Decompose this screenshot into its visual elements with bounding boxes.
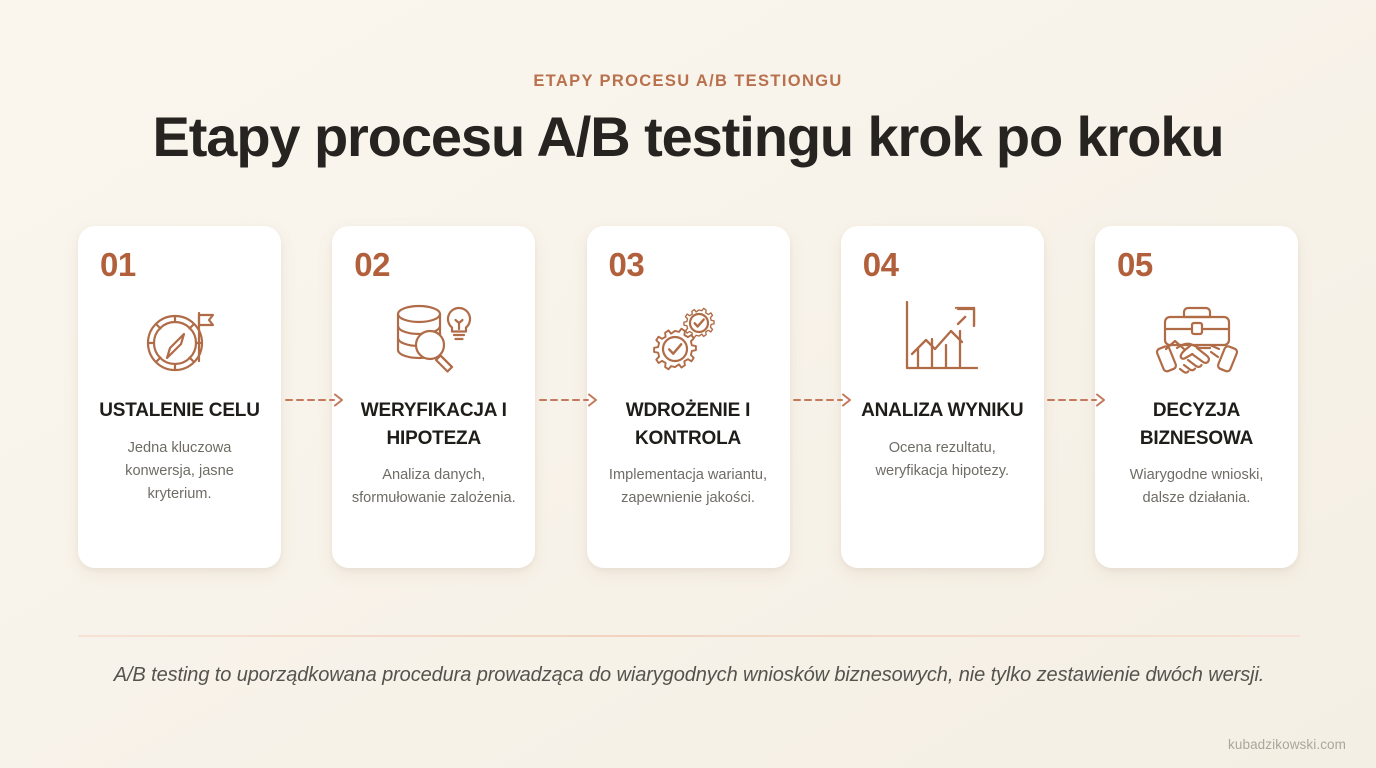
growth-chart-arrow-icon [898,297,986,377]
step-card-05[interactable]: 05 [1095,226,1298,568]
step-description: Jedna kluczowa konwersja, jasne kryteriu… [94,437,265,506]
step-card-04[interactable]: 04 ANALIZA WYNIKU Ocena rezultatu, weryf… [841,226,1044,568]
step-description: Implementacja wariantu, zapewnienie jako… [603,464,774,510]
page-title: Etapy procesu A/B testingu krok po kroku [0,107,1376,167]
compass-flag-icon [137,297,223,377]
step-description: Analiza danych, sformułowanie zalożenia. [348,464,519,510]
step-card-03[interactable]: 03 WDROŻENIE I KON [587,226,790,568]
step-title: ANALIZA WYNIKU [861,397,1023,425]
step-title: DECYZJA BIZNESOWA [1111,397,1282,452]
step-number: 02 [354,248,390,281]
steps-row: 01 USTALENIE CELU Jedna kluczowa konwers… [78,226,1298,568]
gears-check-icon [645,297,731,377]
infographic-canvas: ETAPY PROCESU A/B TESTIONGU Etapy proces… [0,0,1376,768]
step-title: USTALENIE CELU [99,397,259,425]
footer-note: A/B testing to uporządkowana procedura p… [78,661,1300,690]
briefcase-handshake-icon [1151,297,1243,377]
header: ETAPY PROCESU A/B TESTIONGU Etapy proces… [0,0,1376,168]
footer-divider [78,635,1300,637]
step-title: WDROŻENIE I KONTROLA [603,397,774,452]
eyebrow-label: ETAPY PROCESU A/B TESTIONGU [0,72,1376,90]
step-card-02[interactable]: 02 WERYFIKACJA I HIPOTEZA Analiza danych… [332,226,535,568]
step-number: 03 [609,248,645,281]
step-title: WERYFIKACJA I HIPOTEZA [348,397,519,452]
step-description: Ocena rezultatu, weryfikacja hipotezy. [857,437,1028,483]
step-number: 04 [863,248,899,281]
step-description: Wiarygodne wnioski, dalsze działania. [1111,464,1282,510]
step-number: 01 [100,248,136,281]
step-card-01[interactable]: 01 USTALENIE CELU Jedna kluczowa konwers… [78,226,281,568]
step-number: 05 [1117,248,1153,281]
watermark: kubadzikowski.com [1228,737,1346,752]
database-magnifier-bulb-icon [388,297,480,377]
